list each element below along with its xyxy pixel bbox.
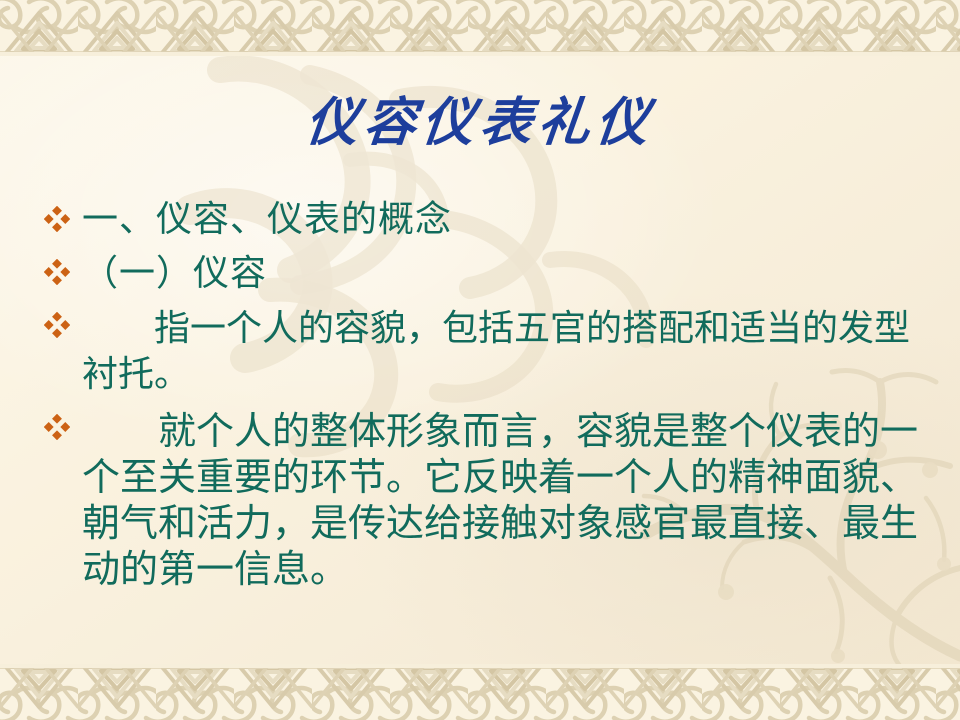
- top-ornamental-border: [0, 0, 960, 56]
- list-item[interactable]: 一、仪容、仪表的概念: [36, 196, 920, 244]
- list-item[interactable]: （一）仪容: [36, 250, 920, 298]
- slide-canvas: 仪容仪表礼仪 一、仪容、仪表的概念: [0, 0, 960, 720]
- list-item-text: （一）仪容: [82, 253, 267, 294]
- list-item-text: 一、仪容、仪表的概念: [82, 199, 452, 240]
- diamond-cluster-bullet-icon: [44, 312, 70, 338]
- list-item-text: 就个人的整体形象而言，容貌是整个仪表的一个至关重要的环节。它反映着一个人的精神面…: [82, 409, 918, 591]
- list-item[interactable]: 就个人的整体形象而言，容貌是整个仪表的一个至关重要的环节。它反映着一个人的精神面…: [36, 408, 920, 592]
- list-item-text: 指一个人的容貌，包括五官的搭配和适当的发型衬托。: [82, 308, 910, 395]
- list-item[interactable]: 指一个人的容貌，包括五官的搭配和适当的发型衬托。: [36, 306, 920, 398]
- slide-title: 仪容仪表礼仪: [0, 92, 960, 154]
- bullet-list: 一、仪容、仪表的概念 （一）仪容: [36, 196, 920, 592]
- diamond-cluster-bullet-icon: [44, 259, 70, 285]
- diamond-cluster-bullet-icon: [44, 414, 70, 440]
- diamond-cluster-bullet-icon: [44, 206, 70, 232]
- bottom-ornamental-border: [0, 664, 960, 720]
